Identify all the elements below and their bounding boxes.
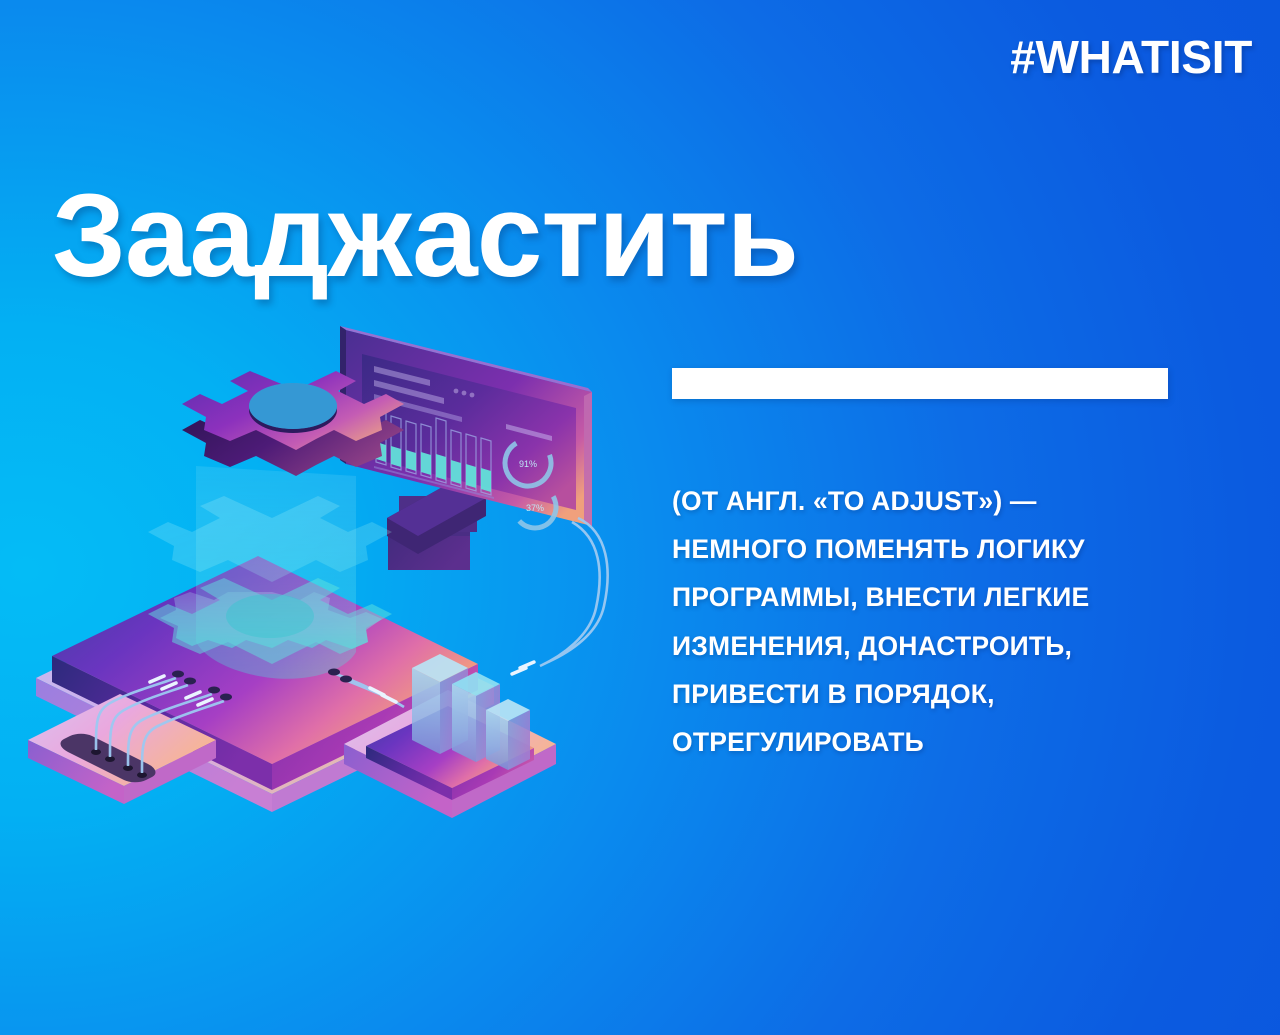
cable-tips-right bbox=[512, 662, 534, 674]
isometric-illustration: 91% 37% bbox=[0, 270, 660, 890]
cable-bundle-right bbox=[540, 518, 608, 666]
title-divider-bar bbox=[672, 368, 1168, 399]
definition-line-3: ПРОГРАММЫ, ВНЕСТИ ЛЕГКИЕ bbox=[672, 573, 1172, 621]
hashtag-label: #WHATISIT bbox=[1010, 34, 1252, 80]
definition-line-1: (ОТ АНГЛ. «TO ADJUST») — bbox=[672, 477, 1172, 525]
definition-line-4: ИЗМЕНЕНИЯ, ДОНАСТРОИТЬ, bbox=[672, 622, 1172, 670]
bar-3 bbox=[486, 699, 530, 770]
gauge-1-label: 91% bbox=[519, 459, 537, 469]
gauge-2-label: 37% bbox=[526, 503, 544, 513]
definition-text: (ОТ АНГЛ. «TO ADJUST») — НЕМНОГО ПОМЕНЯТ… bbox=[672, 477, 1172, 766]
definition-block: (ОТ АНГЛ. «TO ADJUST») — НЕМНОГО ПОМЕНЯТ… bbox=[672, 368, 1172, 766]
poster-canvas: #WHATISIT Зааджастить bbox=[0, 0, 1280, 1035]
definition-line-5: ПРИВЕСТИ В ПОРЯДОК, bbox=[672, 670, 1172, 718]
gear-hologram bbox=[148, 466, 392, 679]
definition-line-6: ОТРЕГУЛИРОВАТЬ bbox=[672, 718, 1172, 766]
definition-line-2: НЕМНОГО ПОМЕНЯТЬ ЛОГИКУ bbox=[672, 525, 1172, 573]
